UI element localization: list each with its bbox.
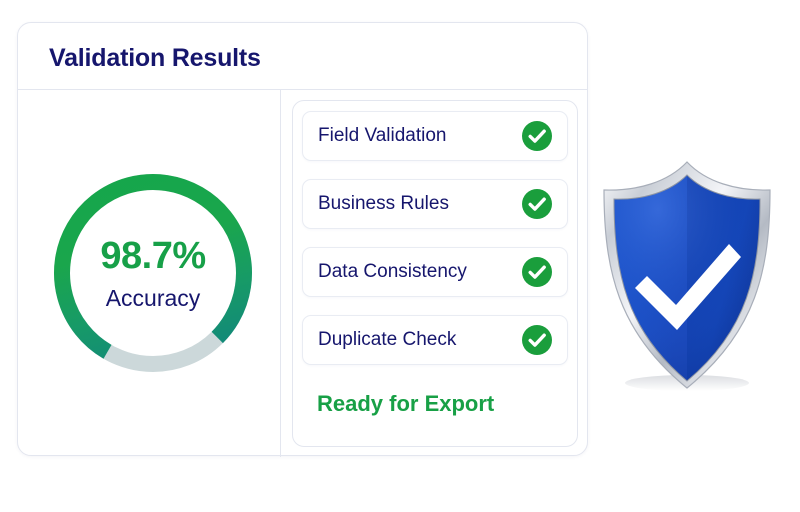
- checklist-item-label: Duplicate Check: [318, 316, 456, 364]
- list-item[interactable]: Business Rules: [302, 179, 568, 229]
- check-circle-icon: [521, 324, 553, 356]
- accuracy-gauge-pane: 98.7% Accuracy: [18, 90, 281, 457]
- checklist-item-label: Field Validation: [318, 112, 447, 160]
- donut-svg: [53, 173, 253, 373]
- checklist-item-label: Data Consistency: [318, 248, 467, 296]
- list-item[interactable]: Duplicate Check: [302, 315, 568, 365]
- shield-check-icon: [596, 152, 778, 392]
- checklist-item-label: Business Rules: [318, 180, 449, 228]
- checklist-pane: Field Validation Business Rules: [281, 90, 589, 457]
- donut-value-arc: [53, 173, 253, 373]
- checklist-panel: Field Validation Business Rules: [292, 100, 578, 447]
- status-badge: Ready for Export: [317, 391, 494, 417]
- checklist: Field Validation Business Rules: [302, 111, 568, 383]
- card-header: Validation Results: [18, 23, 587, 90]
- page-title: Validation Results: [49, 44, 261, 73]
- check-circle-icon: [521, 188, 553, 220]
- card-body: 98.7% Accuracy Field Validation: [18, 90, 587, 457]
- validation-results-card: Validation Results: [17, 22, 588, 456]
- list-item[interactable]: Data Consistency: [302, 247, 568, 297]
- accuracy-donut-chart: 98.7% Accuracy: [53, 173, 253, 373]
- check-circle-icon: [521, 256, 553, 288]
- shield-body: [596, 152, 778, 392]
- check-circle-icon: [521, 120, 553, 152]
- list-item[interactable]: Field Validation: [302, 111, 568, 161]
